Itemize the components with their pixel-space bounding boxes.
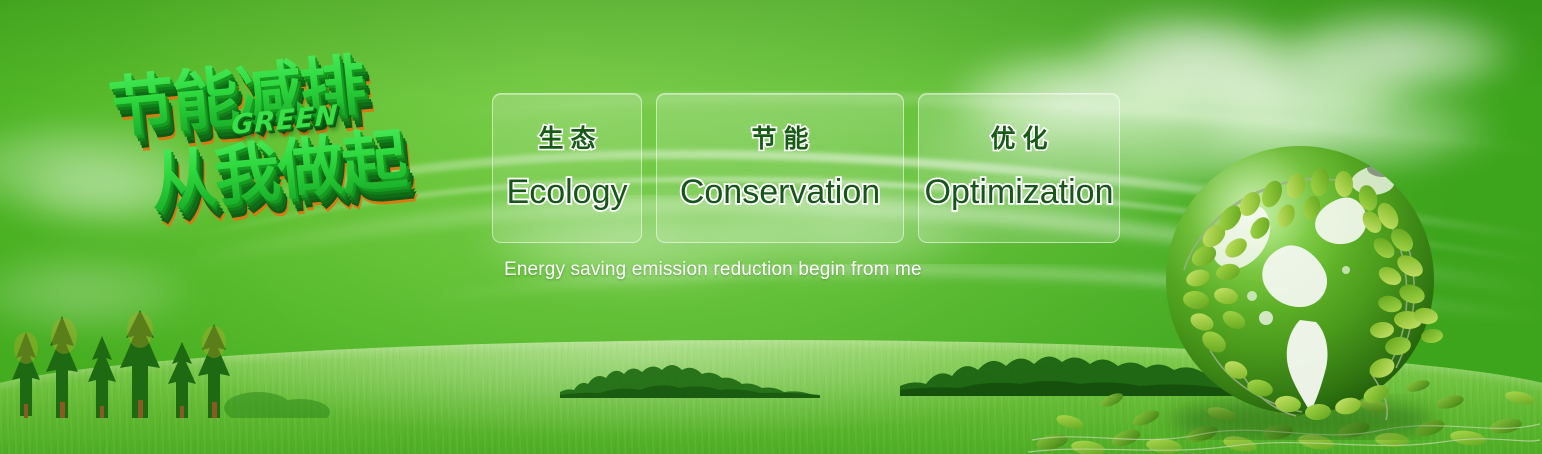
feature-card-conservation[interactable]: 节能 Conservation: [656, 93, 904, 243]
globe-svg: [1140, 120, 1460, 440]
eco-banner: 节能减排 节能减排 节能减排 节能减排 节能减排 节能减排 从我做起 从我做起 …: [0, 0, 1542, 454]
feature-card-optimization[interactable]: 优化 Optimization: [918, 93, 1120, 243]
feature-card-en-label: Conservation: [680, 175, 880, 211]
feature-card-en-label: Optimization: [925, 175, 1114, 211]
feature-card-en-label: Ecology: [507, 175, 628, 211]
leafy-globe: [1140, 120, 1460, 440]
feature-card-cn-label: 生态: [531, 125, 602, 153]
headline-logo: 节能减排 节能减排 节能减排 节能减排 节能减排 节能减排 从我做起 从我做起 …: [85, 11, 506, 288]
feature-card-cn-label: 节能: [744, 125, 815, 153]
feature-card-ecology[interactable]: 生态 Ecology: [492, 93, 642, 243]
tagline: Energy saving emission reduction begin f…: [504, 259, 922, 281]
feature-card-cn-label: 优化: [983, 125, 1054, 153]
feature-card-group: 生态 Ecology 节能 Conservation 优化 Optimizati…: [492, 93, 1120, 243]
